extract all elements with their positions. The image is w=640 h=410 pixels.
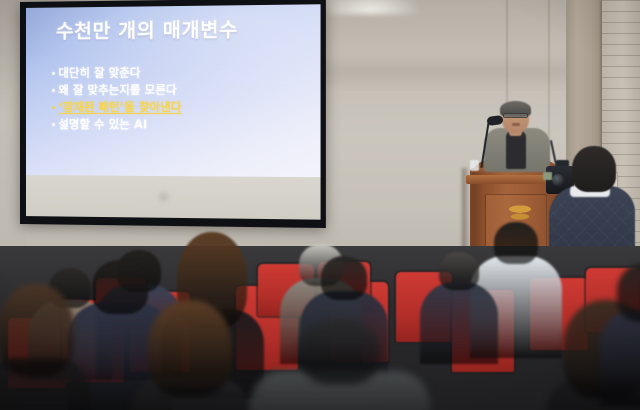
presentation-slide: 수천만 개의 매개변수 • 대단히 잘 맞춘다 • 왜 잘 맞추는지를 모른다 … bbox=[26, 4, 321, 177]
speaker-glasses-icon bbox=[503, 113, 528, 118]
podium-emblem-icon bbox=[505, 205, 535, 222]
man-dark-navy-right-head bbox=[321, 256, 367, 300]
slide-bullet-4-text: 설명할 수 있는 AI bbox=[58, 119, 147, 132]
slide-bullet-4: • 설명할 수 있는 AI bbox=[51, 119, 309, 132]
slide-title: 수천만 개의 매개변수 bbox=[56, 21, 238, 42]
speaker-mouth bbox=[512, 123, 520, 126]
bullet-marker-icon: • bbox=[51, 70, 57, 80]
foreground-far-right-head bbox=[617, 262, 640, 322]
bullet-marker-icon: • bbox=[51, 87, 57, 97]
slide-bullet-3-highlighted: • ‘잠재된 패턴’을 찾아낸다 bbox=[51, 102, 309, 115]
speaker-inner-top bbox=[506, 131, 526, 169]
ceiling-light-glow bbox=[318, 0, 422, 14]
camera-flip-screen bbox=[543, 172, 552, 180]
foreground-left-hair bbox=[0, 284, 90, 410]
slide-bullet-1: • 대단히 잘 맞춘다 bbox=[51, 67, 309, 81]
foreground-grey-jacket-head bbox=[300, 318, 380, 384]
foreground-left-hair-head bbox=[0, 284, 74, 376]
foreground-woman-hair-head bbox=[148, 300, 232, 396]
slide-bullet-3-text: ‘잠재된 패턴’을 찾아낸다 bbox=[58, 102, 181, 115]
water-cup bbox=[470, 160, 479, 171]
slide-bullet-2-text: 왜 잘 맞추는지를 모른다 bbox=[58, 85, 176, 98]
bullet-marker-icon: • bbox=[51, 104, 57, 114]
man-grey-hair-midright bbox=[420, 252, 498, 372]
projection-screen-surface: 수천만 개의 매개변수 • 대단히 잘 맞춘다 • 왜 잘 맞추는지를 모른다 … bbox=[26, 4, 321, 219]
camera-operator-head bbox=[572, 146, 616, 192]
screen-unlit-area bbox=[26, 175, 321, 219]
slide-bullet-list: • 대단히 잘 맞춘다 • 왜 잘 맞추는지를 모른다 • ‘잠재된 패턴’을 … bbox=[51, 67, 309, 138]
foreground-woman-hair bbox=[130, 300, 250, 410]
man-white-shirt-head bbox=[494, 222, 538, 264]
projection-screen-frame: 수천만 개의 매개변수 • 대단히 잘 맞춘다 • 왜 잘 맞추는지를 모른다 … bbox=[20, 0, 326, 228]
man-grey-hair-midright-head bbox=[439, 252, 479, 290]
foreground-far-right-body bbox=[600, 310, 640, 406]
slide-bullet-1-text: 대단히 잘 맞춘다 bbox=[58, 68, 140, 81]
slide-bullet-2: • 왜 잘 맞추는지를 모른다 bbox=[51, 84, 309, 97]
foreground-grey-jacket bbox=[250, 318, 430, 410]
bullet-marker-icon: • bbox=[51, 121, 57, 131]
camera-lens-icon bbox=[552, 174, 564, 186]
screen-smudge bbox=[159, 192, 168, 201]
man-grey-hair-midright-body bbox=[420, 282, 498, 364]
lecture-hall-photo: 수천만 개의 매개변수 • 대단히 잘 맞춘다 • 왜 잘 맞추는지를 모른다 … bbox=[0, 0, 640, 410]
foreground-far-right bbox=[600, 262, 640, 410]
